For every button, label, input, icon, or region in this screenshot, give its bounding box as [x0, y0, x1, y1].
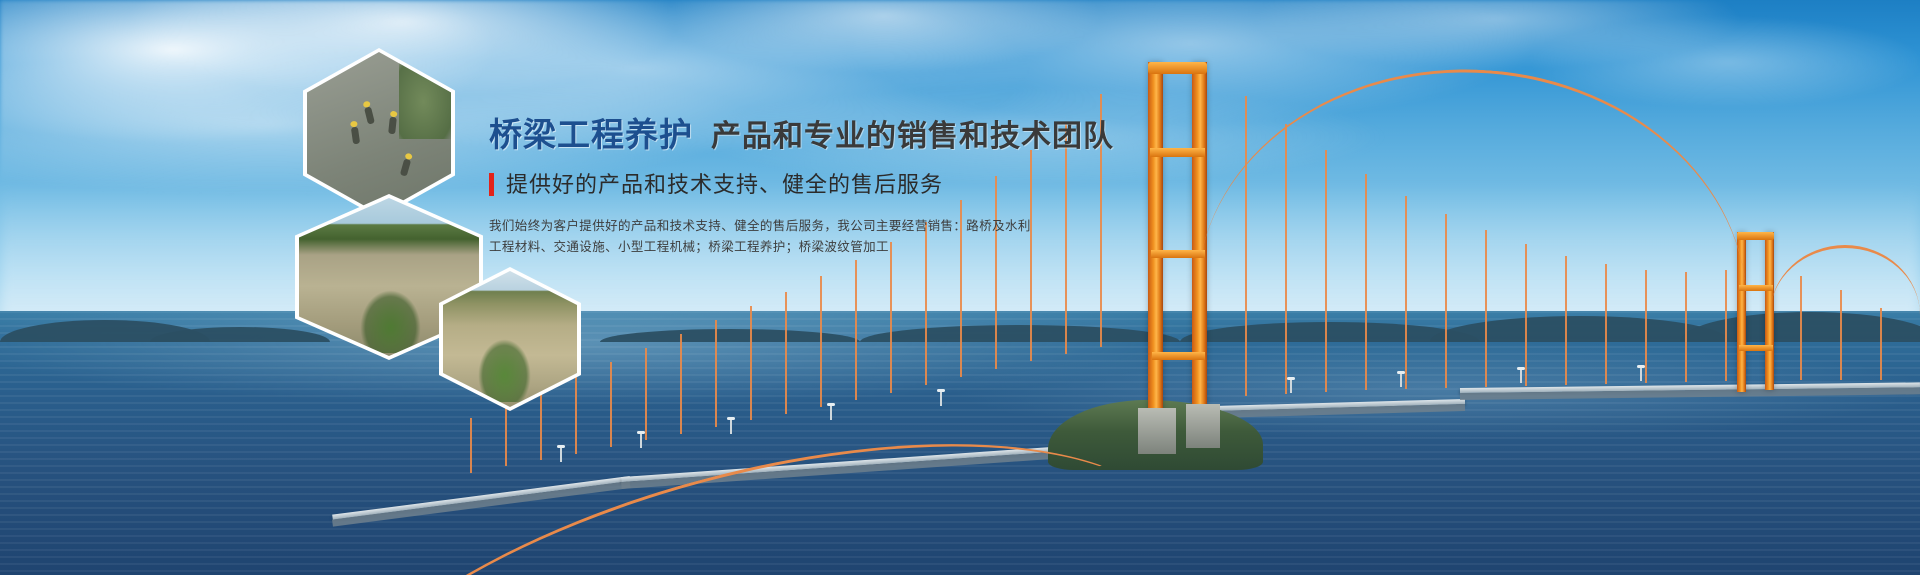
rock-slope-mesh-image	[307, 52, 451, 214]
subheadline: 提供好的产品和技术支持、健全的售后服务	[506, 174, 943, 196]
hex-photo-rock-slope[interactable]	[303, 48, 455, 218]
description-paragraph: 我们始终为客户提供好的产品和技术支持、健全的售后服务，我公司主要经营销售：路桥及…	[489, 216, 1049, 258]
description-line-1: 我们始终为客户提供好的产品和技术支持、健全的售后服务，我公司主要经营销售：路桥及…	[489, 216, 1049, 237]
description-line-2: 工程材料、交通设施、小型工程机械；桥梁工程养护；桥梁波纹管加工	[489, 237, 1049, 258]
subheadline-row: 提供好的产品和技术支持、健全的售后服务	[489, 173, 1049, 196]
hero-banner: 桥梁工程养护产品和专业的销售和技术团队 提供好的产品和技术支持、健全的售后服务 …	[0, 0, 1920, 575]
suspension-bridge	[0, 0, 1920, 575]
headline-primary: 桥梁工程养护	[489, 116, 693, 153]
dry-slope-image	[443, 271, 577, 407]
headline: 桥梁工程养护产品和专业的销售和技术团队	[489, 118, 1049, 152]
hex-photo-dry-slope[interactable]	[439, 267, 581, 411]
banner-copy: 桥梁工程养护产品和专业的销售和技术团队 提供好的产品和技术支持、健全的售后服务 …	[489, 118, 1049, 258]
red-accent-bar	[489, 173, 494, 196]
headline-secondary: 产品和专业的销售和技术团队	[711, 120, 1114, 153]
